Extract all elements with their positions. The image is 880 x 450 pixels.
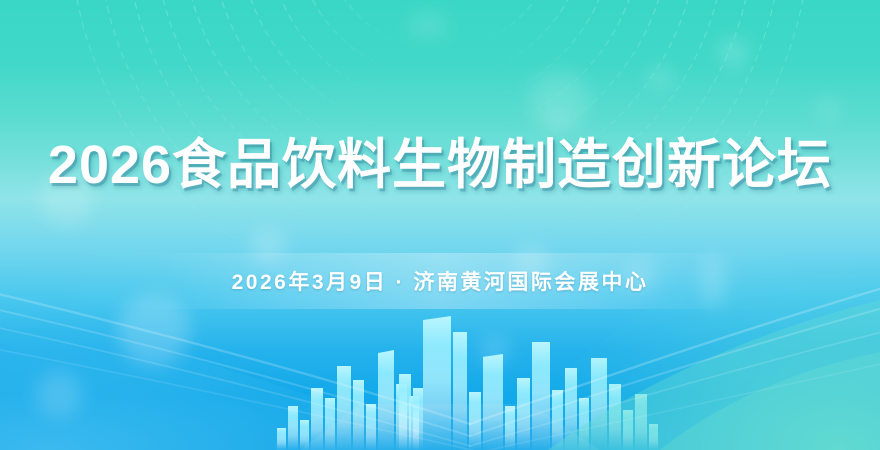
skyline-bar <box>300 420 309 450</box>
event-date-venue: 2026年3月9日 · 济南黄河国际会展中心 <box>232 266 649 296</box>
title-container: 2026食品饮料生物制造创新论坛 <box>0 136 880 194</box>
skyline-bar <box>311 388 323 450</box>
skyline-bar <box>288 406 298 450</box>
skyline-bar <box>649 424 658 450</box>
skyline-bar <box>635 394 647 450</box>
skyline-bar <box>579 398 589 450</box>
skyline-bar <box>453 332 467 450</box>
skyline-bar <box>532 342 550 450</box>
skyline-bar <box>353 380 364 450</box>
skyline-bar <box>378 350 394 450</box>
skyline-bar <box>552 390 563 450</box>
skyline-bar <box>591 358 607 450</box>
skyline-bar <box>399 374 411 450</box>
subtitle-container: 2026年3月9日 · 济南黄河国际会展中心 <box>0 266 880 296</box>
skyline-bar <box>505 406 515 450</box>
skyline-bar <box>623 410 633 450</box>
skyline-bar <box>483 354 503 450</box>
city-skyline-silhouette <box>0 0 880 450</box>
skyline-bar <box>277 428 286 450</box>
skyline-bar <box>609 384 621 450</box>
skyline-bar <box>337 366 351 450</box>
skyline-bar <box>469 392 481 450</box>
skyline-bar <box>413 388 423 450</box>
skyline-bar <box>517 378 530 450</box>
page-title: 2026食品饮料生物制造创新论坛 <box>48 136 832 194</box>
event-banner: 2026食品饮料生物制造创新论坛 2026年3月9日 · 济南黄河国际会展中心 <box>0 0 880 450</box>
skyline-bar <box>423 316 451 450</box>
skyline-bar <box>366 404 376 450</box>
skyline-bar <box>565 368 577 450</box>
skyline-bar <box>325 398 335 450</box>
